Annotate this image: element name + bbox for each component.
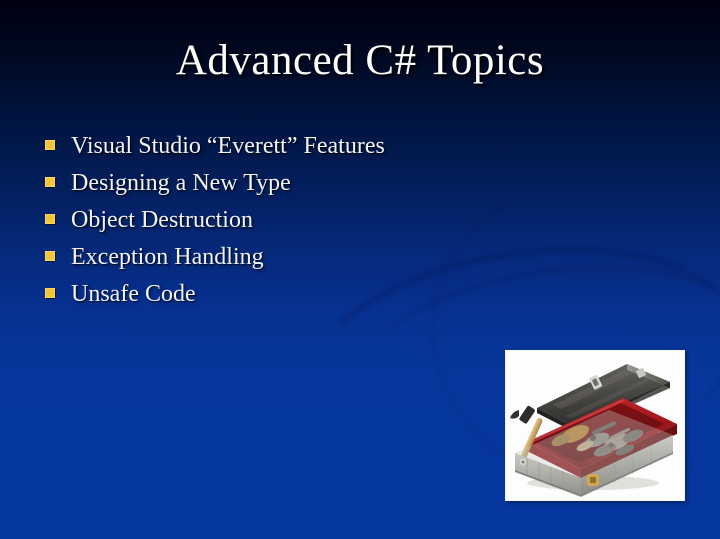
presentation-slide: Advanced C# Topics Visual Studio “Everet… — [0, 0, 720, 539]
list-item: Exception Handling — [43, 238, 493, 275]
square-bullet-icon — [45, 251, 55, 261]
square-bullet-icon — [45, 140, 55, 150]
list-item: Unsafe Code — [43, 275, 493, 312]
bullet-item-label: Visual Studio “Everett” Features — [71, 131, 385, 161]
square-bullet-icon — [45, 288, 55, 298]
list-item: Object Destruction — [43, 201, 493, 238]
square-bullet-icon — [45, 177, 55, 187]
bullet-item-label: Designing a New Type — [71, 168, 291, 198]
bullet-list: Visual Studio “Everett” Features Designi… — [43, 127, 493, 312]
bullet-item-label: Exception Handling — [71, 242, 264, 272]
bullet-item-label: Object Destruction — [71, 205, 253, 235]
square-bullet-icon — [45, 214, 55, 224]
toolbox-illustration — [505, 350, 685, 501]
list-item: Visual Studio “Everett” Features — [43, 127, 493, 164]
slide-title: Advanced C# Topics — [0, 36, 720, 86]
bullet-item-label: Unsafe Code — [71, 279, 196, 309]
toolbox-photo — [505, 350, 685, 501]
list-item: Designing a New Type — [43, 164, 493, 201]
